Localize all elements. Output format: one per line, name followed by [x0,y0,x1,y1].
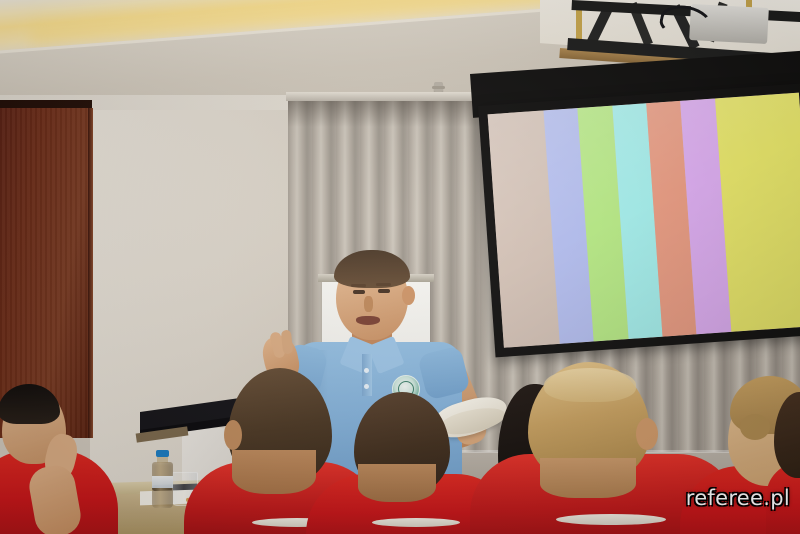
attendee-collar [372,518,460,527]
attendee-center [336,392,476,534]
attendee-ear [224,420,242,450]
presenter-eye [353,290,365,294]
attendee-blond [510,362,700,534]
presenter-nose [364,296,373,312]
presenter-hair [334,250,410,288]
attendee-neck [358,464,436,502]
bottle-label [152,476,173,488]
presenter-eyebrow [376,283,391,286]
photo-scene: ing [0,0,800,534]
presenter-placket [362,354,372,396]
water-bottle [152,450,173,508]
presenter-eyebrow [351,284,366,287]
attendee-ear [636,418,658,450]
projection-screen [478,83,800,357]
presenter-mouth [356,316,380,325]
projection-screen-surface [488,93,800,348]
presenter-shirt-button [364,384,369,389]
presenter-eye [378,289,390,293]
attendee-hair-bun [740,414,770,440]
presenter-shirt-button [364,368,369,373]
bottle-cap-icon [156,450,169,457]
attendee-collar [556,514,666,525]
attendee-neck [232,450,316,494]
attendee-neck [540,458,636,498]
presenter-ear [402,286,415,305]
attendee-hair-highlight [544,368,636,402]
watermark: referee.pl [686,486,790,510]
attendee-far-right-edge [772,392,800,534]
attendee-left [0,388,120,534]
attendee-hair [0,384,60,424]
attendee-head [774,392,800,478]
presenter-finger [281,330,293,355]
sprinkler-icon [434,82,443,92]
